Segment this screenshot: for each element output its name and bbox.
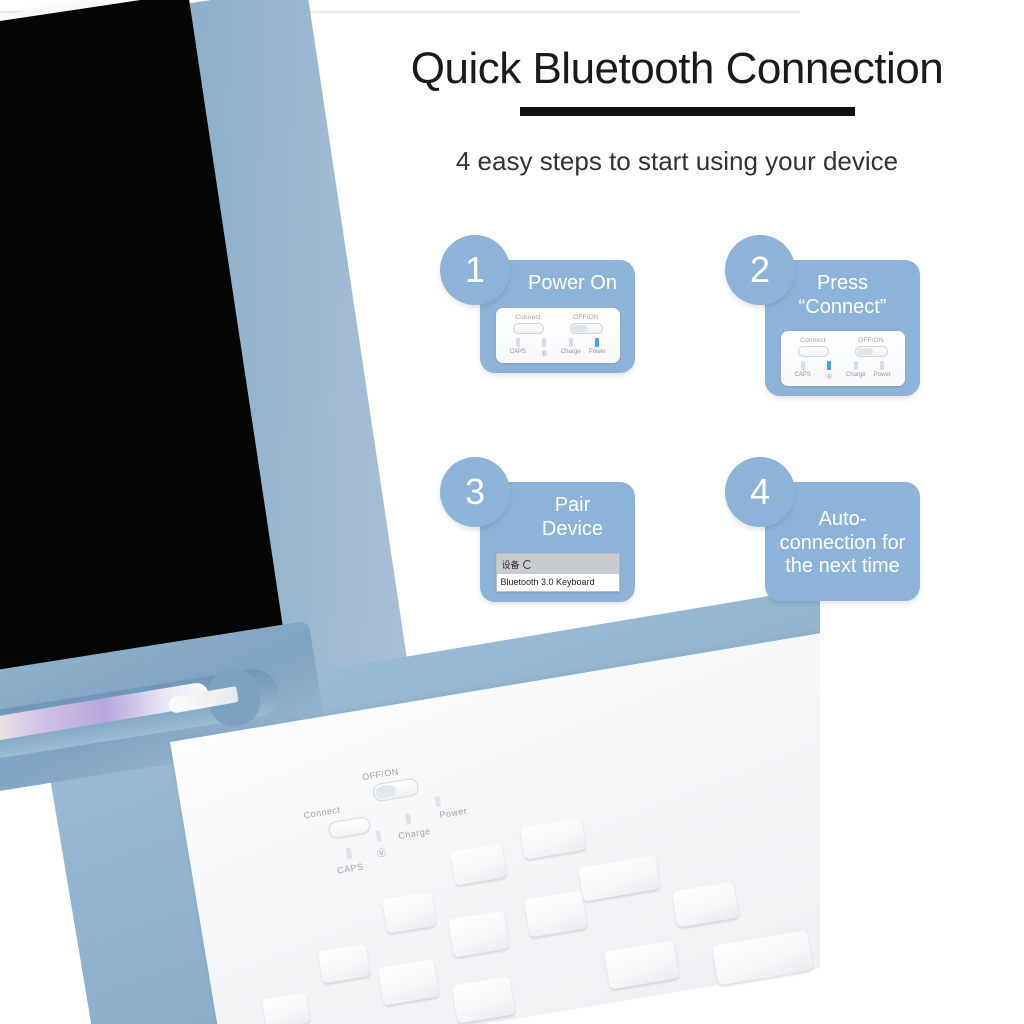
- step-1-led-power: Power: [584, 338, 611, 358]
- key-bracket[interactable]: [672, 882, 739, 928]
- key-punct-1[interactable]: [378, 959, 440, 1006]
- photo-connect-button[interactable]: [327, 816, 371, 840]
- step-3-label: Pair Device: [488, 494, 627, 541]
- key-minus[interactable]: [448, 911, 510, 958]
- led-indicator: [516, 338, 520, 347]
- step-2-led-power: Power: [869, 361, 896, 381]
- key-f12[interactable]: [450, 843, 507, 885]
- step-2-led-charge: Charge: [843, 361, 870, 381]
- key-backspace[interactable]: [578, 855, 661, 901]
- refresh-spinner-icon: [523, 560, 532, 569]
- step-1-control-panel-image: Connect OFF/ON CAPS: [496, 308, 620, 363]
- led-label: Power: [584, 349, 611, 355]
- step-2-label: Press “Connect”: [773, 272, 912, 319]
- photo-charge-label: Charge: [398, 826, 432, 841]
- stylus-tip: [167, 686, 239, 714]
- photo-led-power: [434, 796, 441, 808]
- step-2-control-panel-image: Connect OFF/ON CAPS: [781, 331, 905, 386]
- step-3-pairing-screenshot: 设备 Bluetooth 3.0 Keyboard: [496, 553, 620, 592]
- title-underline: [520, 107, 855, 116]
- photo-connect-label: Connect: [303, 804, 341, 820]
- key-f9[interactable]: [262, 993, 310, 1024]
- led-indicator: [569, 338, 573, 347]
- stylus-pencil: [0, 681, 210, 743]
- step-2-connect-label: Connect: [798, 337, 829, 344]
- stylus-notch: [204, 665, 264, 730]
- info-content: Quick Bluetooth Connection 4 easy steps …: [330, 0, 1024, 700]
- keyboard-control-panel: Connect OFF/ON CAPS Ⓥ Charge Power: [292, 741, 553, 871]
- led-label: CAPS: [505, 349, 532, 355]
- infographic-canvas: Connect OFF/ON CAPS Ⓥ Charge Power Qu: [0, 0, 1024, 1024]
- key-f11[interactable]: [382, 892, 437, 934]
- step-4-label: Auto-connection for the next time: [773, 508, 912, 579]
- led-label: CAPS: [790, 372, 817, 378]
- key-f10[interactable]: [318, 944, 371, 983]
- tablet-bezel: [0, 0, 286, 739]
- led-label: Charge: [843, 372, 870, 378]
- led-label: Ⓑ: [531, 349, 558, 358]
- pairing-header: 设备: [497, 554, 619, 574]
- photo-led-caps: [346, 847, 353, 859]
- led-indicator: [801, 361, 805, 370]
- led-label: Charge: [558, 349, 585, 355]
- step-1-led-caps: CAPS: [505, 338, 532, 358]
- key-equals[interactable]: [524, 890, 587, 937]
- page-subtitle: 4 easy steps to start using your device: [330, 146, 1024, 177]
- tablet-screen: [0, 0, 292, 735]
- led-indicator: [542, 338, 546, 347]
- step-2-switch-label: OFF/ON: [855, 337, 888, 344]
- led-indicator: [854, 361, 858, 370]
- photo-power-switch[interactable]: [372, 777, 420, 802]
- step-2-power-switch[interactable]: [855, 346, 888, 357]
- photo-led-charge: [405, 813, 412, 825]
- case-hinge: [0, 621, 327, 796]
- step-2-led-caps: CAPS: [790, 361, 817, 381]
- step-2-badge: 2: [725, 235, 795, 305]
- step-1-led-bluetooth: Ⓑ: [531, 338, 558, 358]
- pairing-header-text: 设备: [502, 558, 520, 571]
- photo-power-label: Power: [439, 806, 468, 820]
- led-indicator: [595, 338, 599, 347]
- step-1-connect-button[interactable]: [513, 323, 544, 334]
- key-punct-3[interactable]: [604, 940, 679, 989]
- step-4-badge: 4: [725, 457, 795, 527]
- key-punct-2[interactable]: [452, 976, 515, 1023]
- led-indicator: [880, 361, 884, 370]
- step-2-connect-button[interactable]: [798, 346, 829, 357]
- step-1-connect-label: Connect: [513, 314, 544, 321]
- step-3-badge: 3: [440, 457, 510, 527]
- led-label: Ⓑ: [816, 372, 843, 381]
- page-title: Quick Bluetooth Connection: [330, 44, 1024, 94]
- photo-switch-label: OFF/ON: [361, 766, 399, 782]
- key-enter[interactable]: [712, 930, 813, 985]
- stylus-slot: [0, 666, 282, 762]
- led-indicator: [827, 361, 831, 370]
- step-2-led-bluetooth: Ⓑ: [816, 361, 843, 381]
- photo-bt-label: Ⓥ: [376, 845, 388, 859]
- step-1-power-switch[interactable]: [570, 323, 603, 334]
- photo-caps-label: CAPS: [336, 861, 364, 875]
- step-1-badge: 1: [440, 235, 510, 305]
- led-label: Power: [869, 372, 896, 378]
- step-1-switch-label: OFF/ON: [570, 314, 603, 321]
- pairing-device-row[interactable]: Bluetooth 3.0 Keyboard: [497, 574, 619, 591]
- step-1-led-charge: Charge: [558, 338, 585, 358]
- key-delete[interactable]: [520, 818, 586, 860]
- photo-led-bt: [375, 830, 382, 842]
